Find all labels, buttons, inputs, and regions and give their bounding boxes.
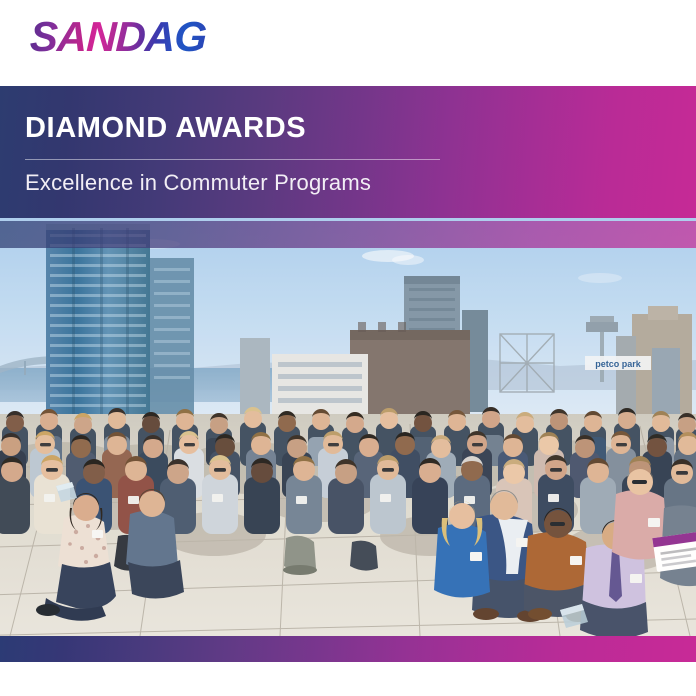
footer-gradient-bar xyxy=(0,636,696,662)
group-photo-illustration: petco park xyxy=(0,218,696,636)
hero-banner: DIAMOND AWARDS Excellence in Commuter Pr… xyxy=(0,86,696,222)
page-title: DIAMOND AWARDS xyxy=(25,112,306,144)
title-divider xyxy=(25,159,440,160)
footer-whitespace xyxy=(0,662,696,696)
logo-header: SANDAG xyxy=(0,0,696,86)
page-subtitle: Excellence in Commuter Programs xyxy=(25,169,371,196)
award-flyer-page: SANDAG DIAMOND AWARDS Excellence in Comm… xyxy=(0,0,696,696)
sandag-logo[interactable]: SANDAG xyxy=(29,15,207,59)
group-photo: petco park xyxy=(0,218,696,636)
